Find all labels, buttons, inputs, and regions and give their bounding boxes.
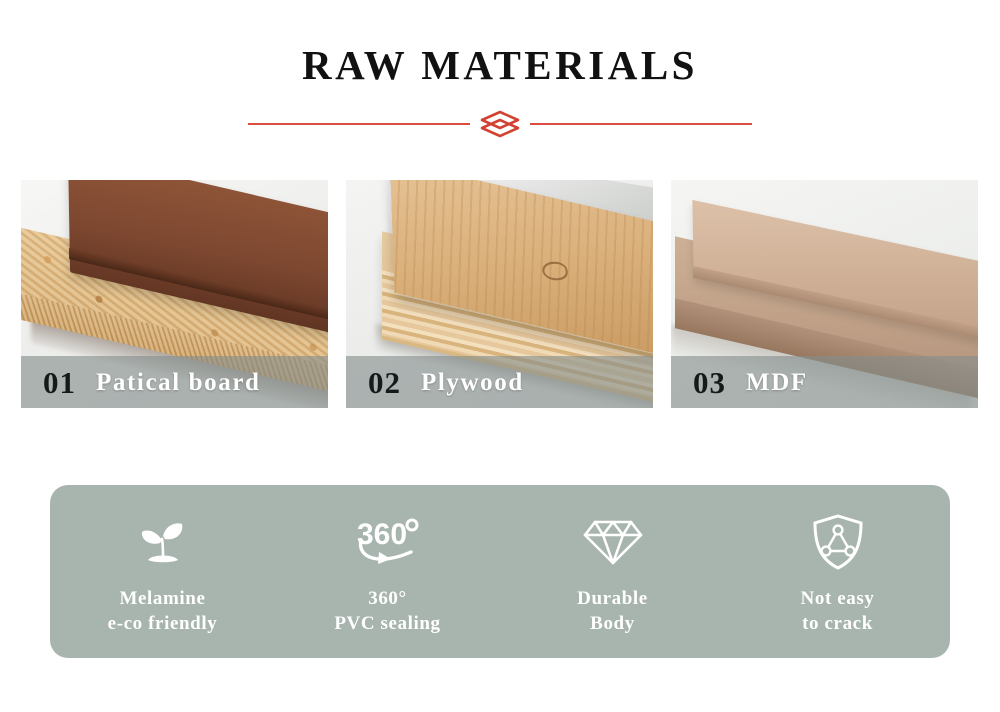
title-divider <box>0 108 1000 140</box>
card-name: Patical board <box>96 370 261 395</box>
feature-label: Durable Body <box>577 586 648 636</box>
card-name: Plywood <box>421 370 524 395</box>
card-label: 01 Patical board <box>21 356 328 408</box>
feature-not-easy-to-crack[interactable]: Not easy to crack <box>725 485 950 658</box>
material-card-mdf[interactable]: 03 MDF <box>671 180 978 408</box>
feature-label-line2: e-co friendly <box>108 611 218 636</box>
card-number: 03 <box>693 367 726 398</box>
material-card-list: 01 Patical board 02 Plywood <box>21 180 980 408</box>
card-label: 03 MDF <box>671 356 978 408</box>
divider-rule-right <box>530 123 752 125</box>
feature-label-line1: Not easy <box>801 586 875 611</box>
feature-label-line2: PVC sealing <box>334 611 440 636</box>
feature-durable-body[interactable]: Durable Body <box>500 485 725 658</box>
material-card-particle-board[interactable]: 01 Patical board <box>21 180 328 408</box>
feature-label: Melamine e-co friendly <box>108 586 218 636</box>
card-number: 01 <box>43 367 76 398</box>
feature-label-line1: Melamine <box>108 586 218 611</box>
shield-molecule-icon <box>810 512 866 572</box>
svg-text:360: 360 <box>357 518 407 551</box>
feature-bar: Melamine e-co friendly 360 360° PVC seal… <box>50 485 950 658</box>
layers-stack-icon <box>470 108 530 140</box>
material-card-plywood[interactable]: 02 Plywood <box>346 180 653 408</box>
card-name: MDF <box>746 370 808 395</box>
360-rotation-icon: 360 <box>349 512 427 572</box>
card-number: 02 <box>368 367 401 398</box>
feature-melamine[interactable]: Melamine e-co friendly <box>50 485 275 658</box>
feature-label: 360° PVC sealing <box>334 586 440 636</box>
feature-label-line1: Durable <box>577 586 648 611</box>
diamond-icon <box>581 512 645 572</box>
card-label: 02 Plywood <box>346 356 653 408</box>
divider-rule-left <box>248 123 470 125</box>
page-title: RAW MATERIALS <box>0 40 1000 90</box>
feature-label: Not easy to crack <box>801 586 875 636</box>
sprout-icon <box>132 512 194 572</box>
feature-label-line2: to crack <box>801 611 875 636</box>
feature-label-line1: 360° <box>334 586 440 611</box>
feature-label-line2: Body <box>577 611 648 636</box>
feature-pvc-sealing[interactable]: 360 360° PVC sealing <box>275 485 500 658</box>
